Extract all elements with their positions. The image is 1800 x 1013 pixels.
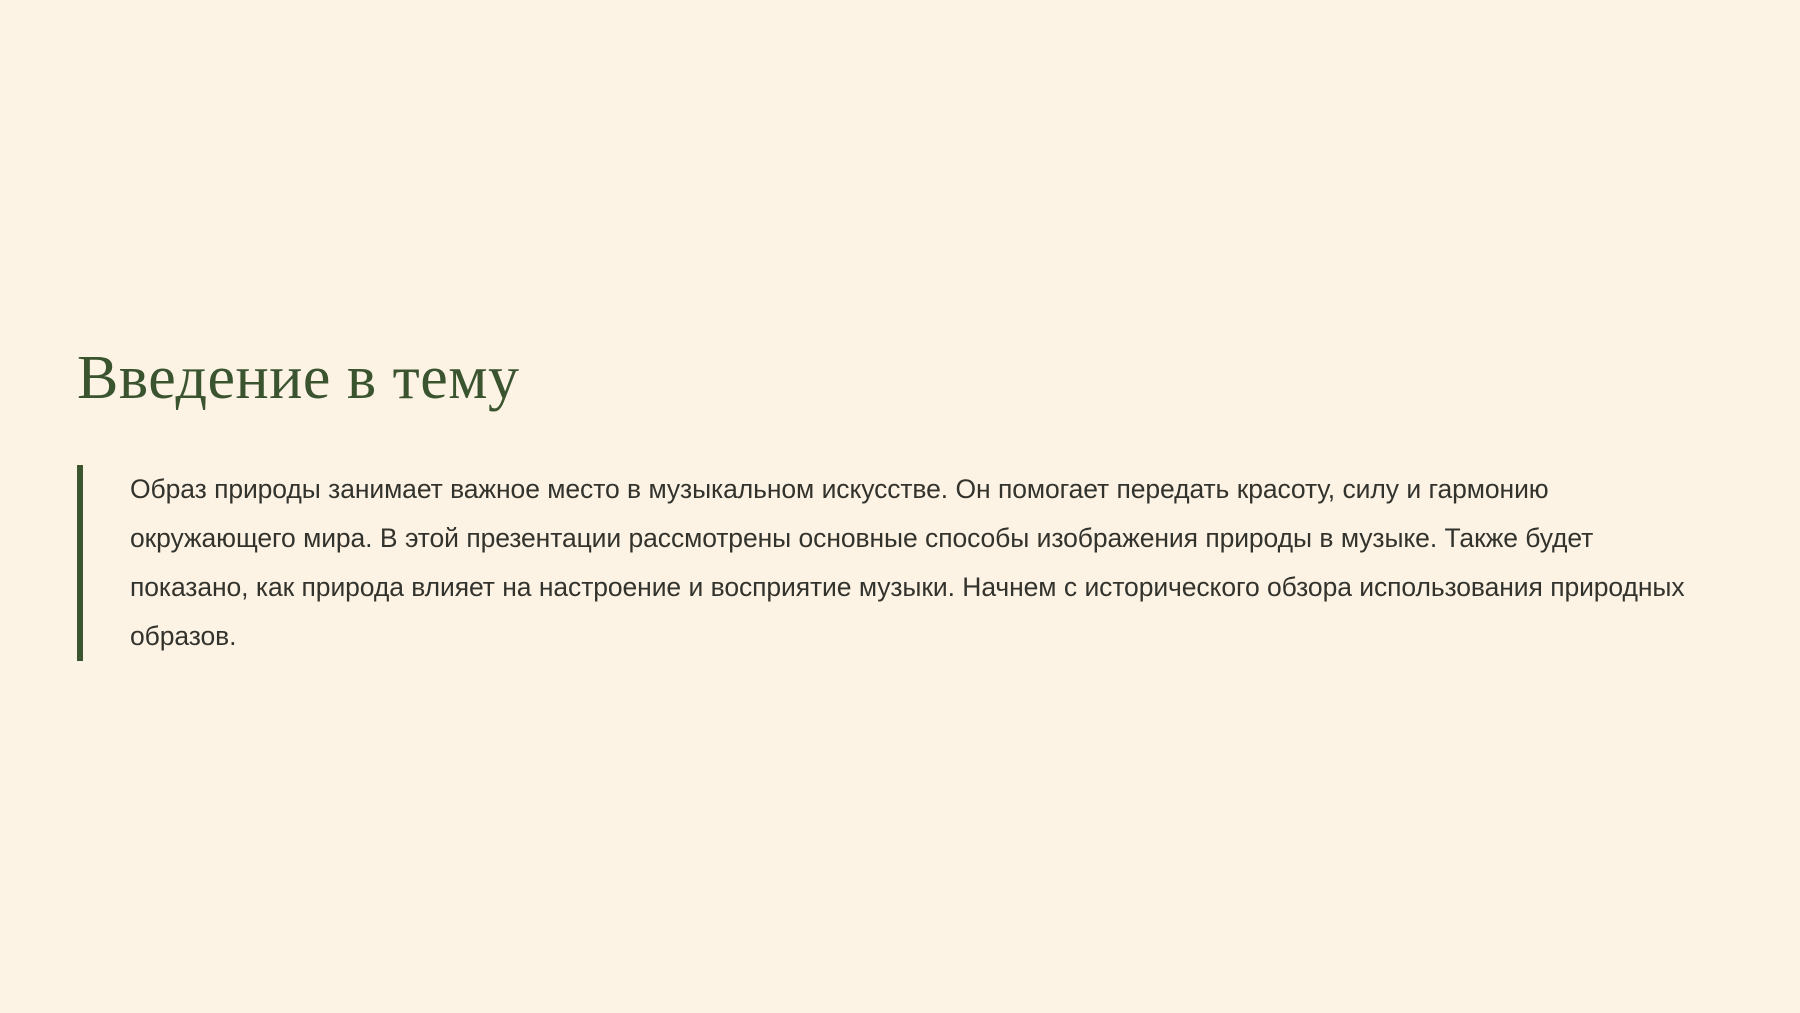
body-paragraph: Образ природы занимает важное место в му… bbox=[83, 465, 1717, 661]
body-callout: Образ природы занимает важное место в му… bbox=[77, 465, 1717, 661]
presentation-slide: Введение в тему Образ природы занимает в… bbox=[0, 0, 1800, 1013]
page-title: Введение в тему bbox=[77, 345, 520, 412]
